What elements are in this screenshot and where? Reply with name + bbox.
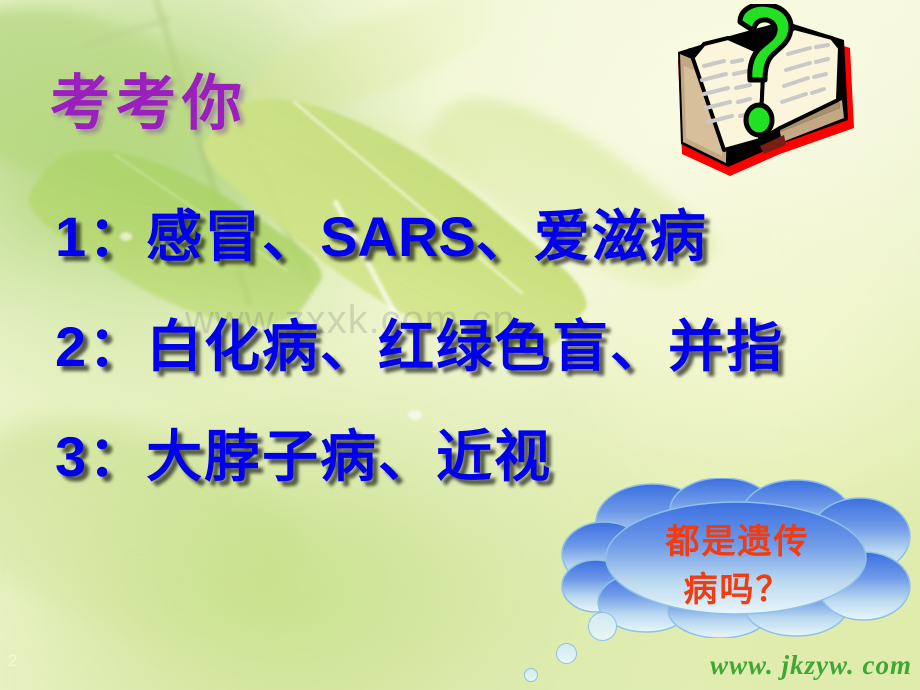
thought-trail-bubble-1 — [588, 612, 617, 641]
thought-trail-bubble-3 — [524, 668, 538, 682]
question-2-text-a: 白化病、红绿色盲、并指 — [146, 314, 784, 380]
thought-bubble-line-1: 都是遗传 — [560, 518, 915, 566]
question-2-number: 2： — [55, 315, 146, 378]
open-book-question-mark-icon — [668, 4, 864, 180]
question-1-text-c: 、爱滋病 — [476, 204, 708, 270]
thought-trail-bubble-2 — [556, 643, 577, 664]
question-1-text-b: SARS — [320, 205, 476, 268]
question-line-3: 3：大脖子病、近视 — [55, 412, 552, 493]
thought-bubble-text: 都是遗传 病吗？ — [560, 518, 915, 614]
slide-canvas: www.zxxk.com.cn 考考你 1：感冒、SARS、爱滋病 2：白化病、… — [0, 0, 920, 690]
question-line-1: 1：感冒、SARS、爱滋病 — [55, 192, 708, 273]
page-number: 2 — [8, 651, 17, 671]
site-url-label: www. jkzyw. com — [710, 650, 912, 681]
page-title: 考考你 — [50, 55, 248, 142]
question-3-text-a: 大脖子病、近视 — [146, 424, 552, 490]
thought-bubble-line-2: 病吗？ — [560, 566, 915, 614]
question-1-number: 1： — [55, 205, 146, 268]
question-line-2: 2：白化病、红绿色盲、并指 — [55, 302, 784, 383]
question-3-number: 3： — [55, 425, 146, 488]
question-1-text-a: 感冒、 — [146, 204, 320, 270]
